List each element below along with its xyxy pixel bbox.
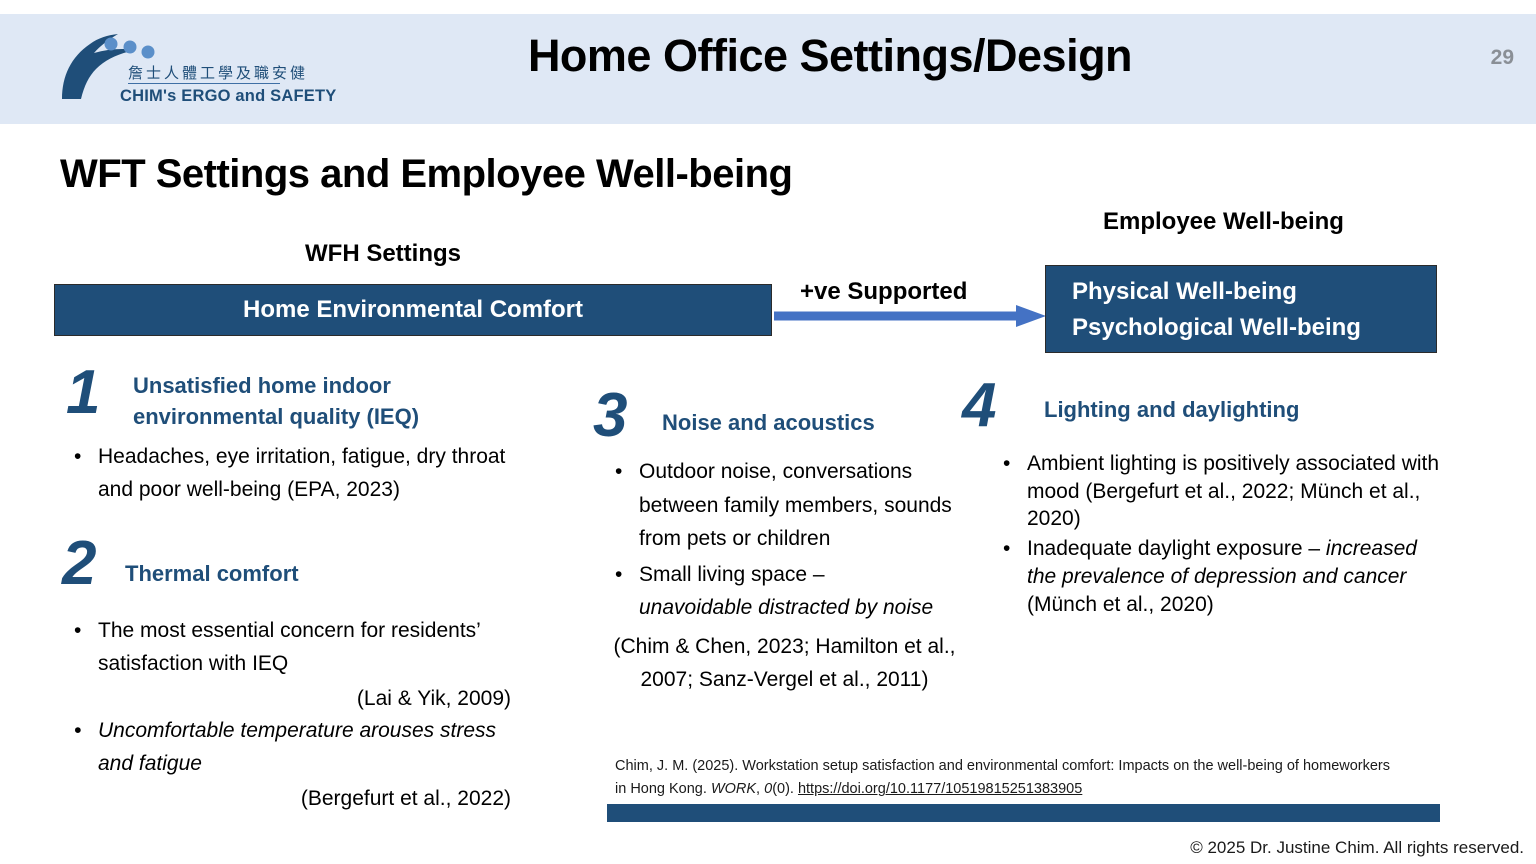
reference-citation: Chim, J. M. (2025). Workstation setup sa… <box>615 755 1405 802</box>
logo-dot-2 <box>124 41 137 54</box>
logo-underline <box>128 83 280 84</box>
slide: 詹士人體工學及職安健 CHIM's ERGO and SAFETY Home O… <box>0 0 1536 864</box>
list-item: Small living space – unavoidable distrac… <box>607 558 957 625</box>
employee-wellbeing-box: Physical Well-being Psychological Well-b… <box>1045 265 1437 353</box>
section-citation-3: (Chim & Chen, 2023; Hamilton et al., 200… <box>607 631 962 696</box>
list-item: The most essential concern for residents… <box>66 615 511 681</box>
list-item: Inadequate daylight exposure – increased… <box>995 535 1445 618</box>
page-number: 29 <box>1491 46 1514 70</box>
arrow-right-icon <box>774 303 1046 329</box>
reference-journal: WORK <box>711 781 756 797</box>
copyright-notice: © 2025 Dr. Justine Chim. All rights rese… <box>1190 838 1524 858</box>
reference-doi-link[interactable]: https://doi.org/10.1177/1051981525138390… <box>798 781 1082 797</box>
list-item: Outdoor noise, conversations between fam… <box>607 455 957 556</box>
section-heading-2: Thermal comfort <box>125 561 299 587</box>
section-number-3: 3 <box>593 385 627 447</box>
section-bullets-3: Outdoor noise, conversations between fam… <box>607 455 957 627</box>
logo-dot-3 <box>142 46 155 59</box>
reference-part3: (0). <box>772 781 798 797</box>
home-environmental-comfort-text: Home Environmental Comfort <box>243 296 583 324</box>
section-number-2: 2 <box>62 533 96 595</box>
employee-wellbeing-label: Employee Well-being <box>1103 208 1344 236</box>
section-heading-4: Lighting and daylighting <box>1044 397 1299 423</box>
citation-text: (Lai & Yik, 2009) <box>66 683 511 716</box>
logo-english-text: CHIM's ERGO and SAFETY <box>120 87 336 106</box>
main-heading: WFT Settings and Employee Well-being <box>60 152 792 197</box>
reference-part2: , <box>756 781 764 797</box>
section-bullets-4: Ambient lighting is positively associate… <box>995 450 1445 620</box>
section-heading-3: Noise and acoustics <box>662 410 875 436</box>
reference-accent-bar <box>607 804 1440 822</box>
list-item: Headaches, eye irritation, fatigue, dry … <box>66 441 536 506</box>
list-item-lead: Small living space – <box>639 563 825 586</box>
section-number-1: 1 <box>66 362 100 424</box>
reference-volume: 0 <box>764 781 772 797</box>
logo-dot-1 <box>105 38 118 51</box>
logo-chinese-text: 詹士人體工學及職安健 <box>128 62 308 83</box>
list-item: Ambient lighting is positively associate… <box>995 450 1445 533</box>
section-heading-1: Unsatisfied home indoor environmental qu… <box>133 370 463 432</box>
wfh-settings-label: WFH Settings <box>305 240 461 268</box>
citation-text: (Bergefurt et al., 2022) <box>66 783 511 816</box>
list-item-citation: (Münch et al., 2020) <box>1027 593 1214 616</box>
arrow-label: +ve Supported <box>800 278 967 306</box>
list-item-emphasis: unavoidable distracted by noise <box>639 596 933 619</box>
physical-wellbeing-text: Physical Well-being <box>1072 274 1436 310</box>
section-number-4: 4 <box>962 375 996 437</box>
page-title: Home Office Settings/Design <box>330 30 1330 82</box>
company-logo: 詹士人體工學及職安健 CHIM's ERGO and SAFETY <box>36 26 286 114</box>
list-item-lead: Inadequate daylight exposure – <box>1027 537 1326 560</box>
psychological-wellbeing-text: Psychological Well-being <box>1072 310 1436 346</box>
section-bullets-2: The most essential concern for residents… <box>66 615 511 816</box>
home-environmental-comfort-box: Home Environmental Comfort <box>54 284 772 336</box>
section-bullets-1: Headaches, eye irritation, fatigue, dry … <box>66 441 536 508</box>
list-item: Uncomfortable temperature arouses stress… <box>66 715 511 781</box>
